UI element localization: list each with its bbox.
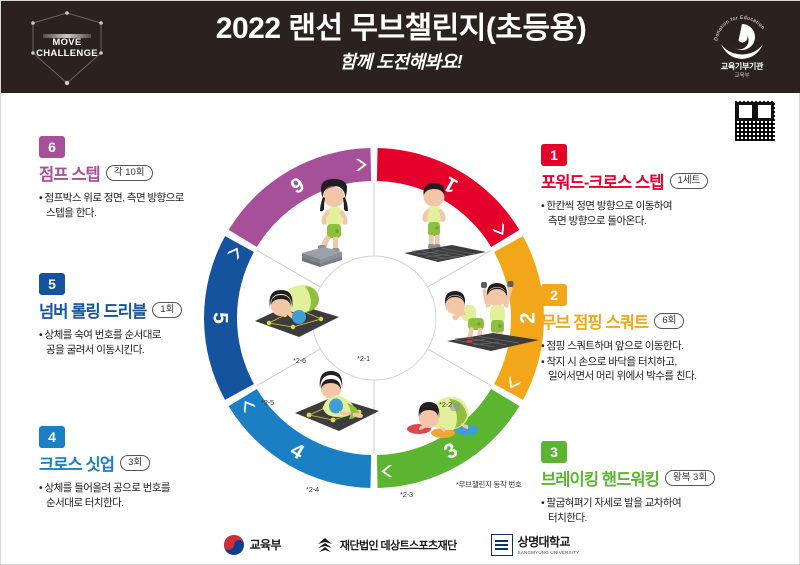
move-logo-text: MOVE CHALLENGE [19, 37, 115, 59]
wheel-step-tag-5: *2-5 [261, 398, 274, 407]
footer-logo-moe-label: 교육부 [250, 536, 281, 553]
exercise-bullet-line: • 점핑 스쿼트하며 앞으로 이동한다. [541, 339, 791, 354]
figure-step-3 [405, 385, 483, 439]
footer-logo-descente-label: 재단법인 데상트스포츠재단 [340, 537, 457, 553]
exercise-bullet-line: • 착지 시 손으로 바닥을 터치하고, [541, 355, 791, 370]
figure-step-6 [298, 183, 370, 267]
wheel-step-tag-2: *2-2 [439, 400, 452, 409]
footer-logo-descente: 재단법인 데상트스포츠재단 [315, 536, 457, 554]
exercise-reps-6: 각 10회 [106, 165, 153, 182]
wheel-footnote: *무브챌린지 동작 번호 [456, 479, 522, 490]
wheel-step-tag-6: *2-6 [293, 356, 306, 365]
edu-logo-sub: 교육부 [705, 72, 779, 80]
wheel-step-tag-1: *2-1 [357, 354, 370, 363]
exercise-reps-1: 1세트 [670, 173, 709, 190]
wheel-step-tag-3: *2-3 [400, 490, 413, 499]
exercise-bullet-line: 터치한다. [541, 511, 791, 526]
footer-logo-moe: 교육부 [223, 534, 281, 556]
exercise-description-2: • 점핑 스쿼트하며 앞으로 이동한다.• 착지 시 손으로 바닥을 터치하고,… [541, 339, 791, 384]
move-challenge-logo: MOVE CHALLENGE [19, 9, 115, 87]
exercise-description-3: • 팔굽혀펴기 자세로 발을 교차하여터치한다. [541, 496, 791, 525]
move-logo-line1: MOVE [52, 37, 81, 48]
exercise-title-3: 브레이킹 핸드워킹 [541, 466, 659, 490]
footer-logo-smu: 상명대학교 SANGMYUNG UNIVERSITY [491, 533, 580, 556]
exercise-item-3: 3브레이킹 핸드워킹왕복 3회• 팔굽혀펴기 자세로 발을 교차하여터치한다. [541, 441, 791, 525]
figure-step-2 [429, 275, 539, 353]
education-donation-logo: Donation for Education 교육기부기관 교육부 [705, 10, 779, 84]
figure-step-1 [390, 187, 486, 259]
figure-step-4 [287, 369, 383, 441]
exercise-title-row: 브레이킹 핸드워킹왕복 3회 [541, 466, 791, 490]
wheel-segment-number-5: 5 [209, 312, 232, 324]
exercise-title-6: 점프 스텝 [39, 161, 100, 185]
poster-canvas: MOVE CHALLENGE 2022 랜선 무브챌린지(초등용) 함께 도전해… [0, 0, 800, 565]
exercise-item-1: 1포워드-크로스 스텝1세트• 한칸씩 정면 방향으로 이동하여측면 방향으로 … [541, 144, 791, 228]
exercise-title-row: 무브 점핑 스쿼트6회 [541, 309, 791, 333]
footer-logos: 교육부 재단법인 데상트스포츠재단 상명대학교 SANGMYUNG UNIVER… [1, 533, 800, 556]
exercise-reps-2: 6회 [654, 313, 684, 330]
exercise-item-2: 2무브 점핑 스쿼트6회• 점핑 스쿼트하며 앞으로 이동한다.• 착지 시 손… [541, 284, 791, 384]
wheel-spoke [428, 349, 491, 386]
title-block: 2022 랜선 무브챌린지(초등용) 함께 도전해봐요! [151, 11, 651, 74]
wheel-step-tag-4: *2-4 [306, 485, 319, 494]
footer-logo-smu-label: 상명대학교 [518, 533, 580, 550]
qr-code[interactable] [733, 99, 777, 143]
exercise-bullet-line: • 팔굽혀펴기 자세로 발을 교차하여 [541, 496, 791, 511]
exercise-title-row: 포워드-크로스 스텝1세트 [541, 169, 791, 193]
descente-icon [315, 536, 335, 554]
exercise-badge-6: 6 [39, 136, 65, 158]
exercise-badge-5: 5 [39, 273, 65, 295]
edu-logo-label: 교육기부기관 [705, 62, 779, 72]
exercise-title-4: 크로스 싯업 [39, 451, 114, 475]
page-subtitle: 함께 도전해봐요! [151, 50, 651, 74]
exercise-bullet-line: • 한칸씩 정면 방향으로 이동하여 [541, 199, 791, 214]
exercise-reps-3: 왕복 3회 [665, 470, 715, 487]
figure-step-5 [251, 277, 341, 345]
exercise-title-5: 넘버 롤링 드리블 [39, 298, 146, 322]
exercise-title-1: 포워드-크로스 스텝 [541, 169, 664, 193]
exercise-bullet-line: 측면 방향으로 돌아온다. [541, 214, 791, 229]
exercise-title-2: 무브 점핑 스쿼트 [541, 309, 648, 333]
smu-mark-icon [491, 534, 513, 556]
footer-logo-smu-sub: SANGMYUNG UNIVERSITY [518, 550, 580, 556]
exercise-description-1: • 한칸씩 정면 방향으로 이동하여측면 방향으로 돌아온다. [541, 199, 791, 228]
move-logo-line2: CHALLENGE [36, 48, 98, 59]
exercise-reps-5: 1회 [152, 302, 182, 319]
exercise-reps-4: 3회 [120, 455, 150, 472]
exercise-bullet-line: 일어서면서 머리 위에서 박수를 친다. [541, 369, 791, 384]
poster-header: MOVE CHALLENGE 2022 랜선 무브챌린지(초등용) 함께 도전해… [1, 1, 800, 93]
exercise-badge-4: 4 [39, 426, 65, 448]
page-title: 2022 랜선 무브챌린지(초등용) [151, 11, 651, 47]
taegeuk-icon [223, 534, 245, 556]
